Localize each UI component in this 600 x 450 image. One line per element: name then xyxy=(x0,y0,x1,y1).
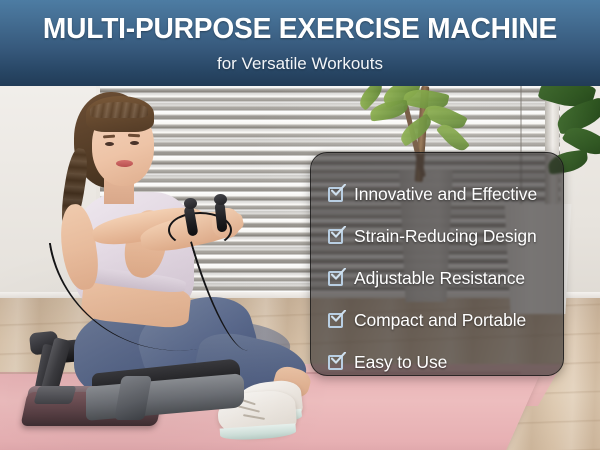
machine-pedal xyxy=(33,386,76,404)
feature-item-compact-portable: Compact and Portable xyxy=(311,299,563,341)
checkbox-checked-icon xyxy=(328,185,347,204)
feature-list: Innovative and Effective Strain-Reducing… xyxy=(311,173,563,383)
model-using-machine: Zelus xyxy=(0,86,330,450)
feature-label: Compact and Portable xyxy=(354,310,526,330)
checkbox-checked-icon xyxy=(328,353,347,372)
feature-item-innovative: Innovative and Effective xyxy=(311,173,563,215)
header-banner: MULTI-PURPOSE EXERCISE MACHINE for Versa… xyxy=(0,0,600,86)
model-eye xyxy=(130,141,139,145)
page-title: MULTI-PURPOSE EXERCISE MACHINE xyxy=(9,13,591,45)
feature-label: Easy to Use xyxy=(354,352,447,372)
model-hair-front xyxy=(86,96,154,132)
handle-cap-right xyxy=(214,194,227,205)
feature-label: Adjustable Resistance xyxy=(354,268,525,288)
product-ad-image: MULTI-PURPOSE EXERCISE MACHINE for Versa… xyxy=(0,0,600,450)
model-eye xyxy=(105,142,114,146)
handle-cap-left xyxy=(184,198,197,209)
feature-item-easy-to-use: Easy to Use xyxy=(311,341,563,383)
checkbox-checked-icon xyxy=(328,311,347,330)
model-eyebrow xyxy=(128,134,140,137)
checkbox-checked-icon xyxy=(328,269,347,288)
machine-handle-right xyxy=(214,202,227,233)
feature-item-strain-reducing: Strain-Reducing Design xyxy=(311,215,563,257)
feature-label: Strain-Reducing Design xyxy=(354,226,537,246)
feature-item-adjustable-resistance: Adjustable Resistance xyxy=(311,257,563,299)
model-lips xyxy=(116,160,133,167)
feature-list-panel: Innovative and Effective Strain-Reducing… xyxy=(310,152,564,376)
feature-label: Innovative and Effective xyxy=(354,184,537,204)
checkbox-checked-icon xyxy=(328,227,347,246)
page-subtitle: for Versatile Workouts xyxy=(0,53,600,74)
